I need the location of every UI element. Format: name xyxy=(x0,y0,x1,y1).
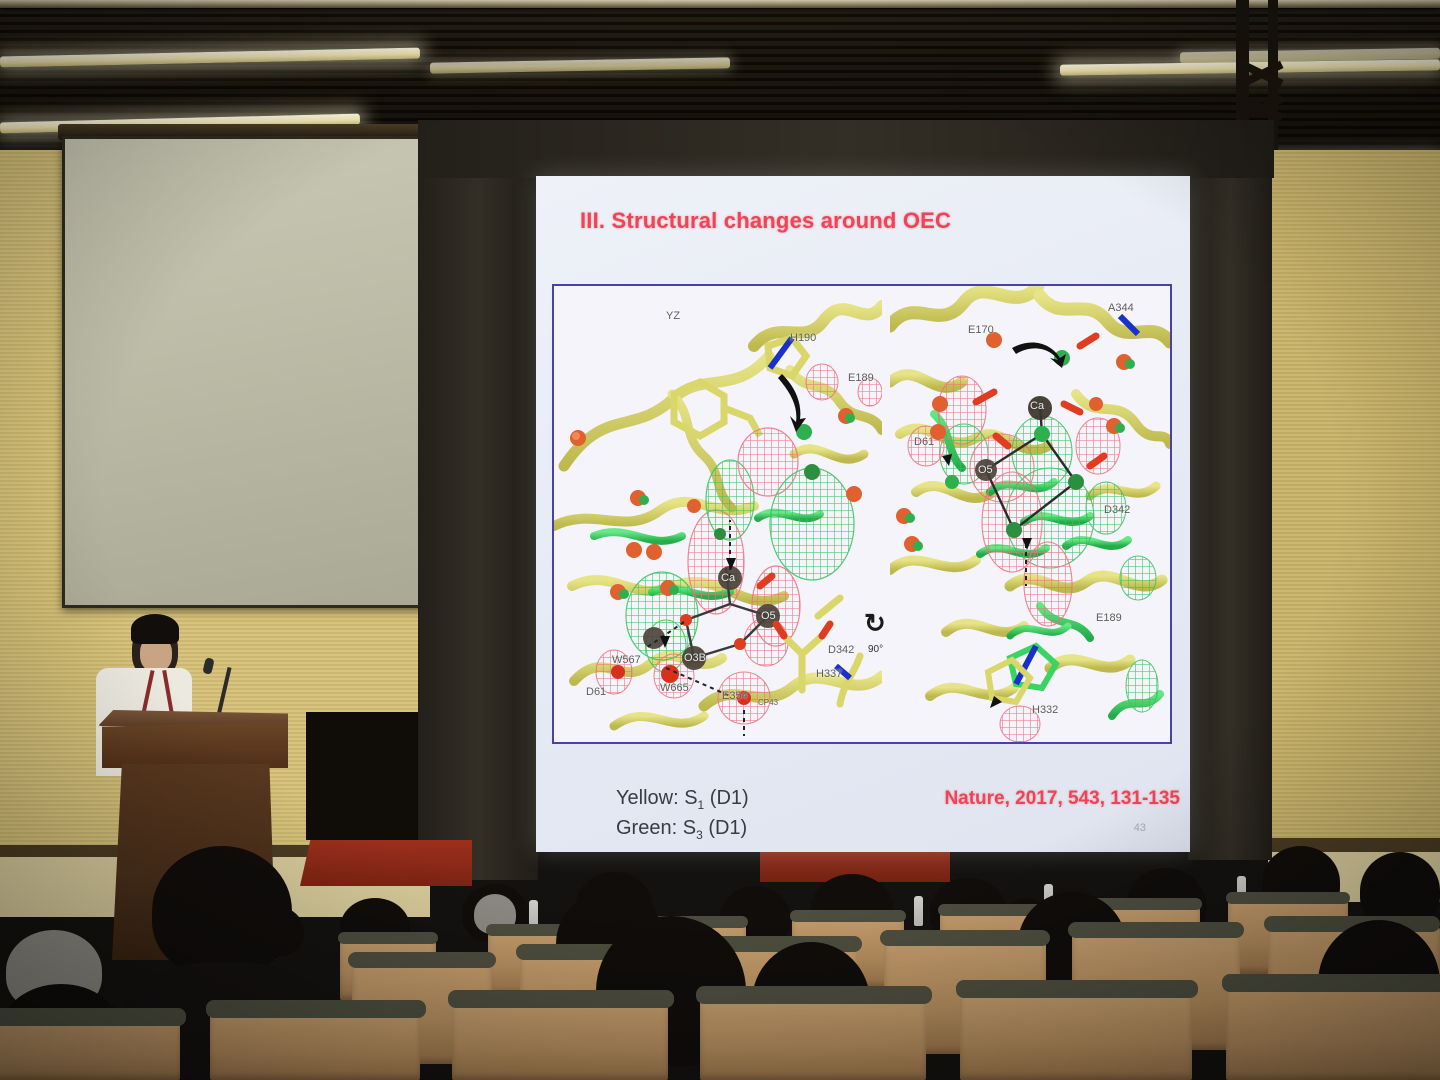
label-e189-right: E189 xyxy=(1096,612,1122,624)
label-a344: A344 xyxy=(1108,302,1134,314)
slide-figure-box: YZ H190 E189 Ca O5 O3B D342 D61 W567 W66… xyxy=(552,284,1172,744)
legend-yellow-chain: (D1) xyxy=(710,787,749,809)
slide-title: III. Structural changes around OEC xyxy=(580,208,951,234)
legend-green-word: Green: xyxy=(616,817,677,839)
label-d342-left: D342 xyxy=(828,644,854,656)
legend-green-chain: (D1) xyxy=(708,817,747,839)
legend-row-yellow: Yellow: S1 (D1) xyxy=(616,784,749,814)
legend-green-sub: 3 xyxy=(696,828,703,842)
label-d61-left: D61 xyxy=(586,686,606,698)
label-e170: E170 xyxy=(968,324,994,336)
projected-slide: III. Structural changes around OEC xyxy=(536,176,1190,852)
slide-page-number: 43 xyxy=(1134,822,1146,834)
label-d342-right: D342 xyxy=(1104,504,1130,516)
wall-panel-dark-right xyxy=(1188,120,1272,860)
label-d61-right: D61 xyxy=(914,436,934,448)
label-o3b: O3B xyxy=(684,652,706,664)
wall-panel-dark-left xyxy=(418,120,538,880)
speaker-hair xyxy=(131,614,179,644)
rotation-angle-label: 90° xyxy=(868,644,883,655)
label-cp43: CP43 xyxy=(758,698,778,707)
label-o5-left: O5 xyxy=(761,610,776,622)
wall-right xyxy=(1268,150,1440,856)
slide-citation: Nature, 2017, 543, 131-135 xyxy=(944,788,1180,810)
label-e354: E354 xyxy=(722,690,748,702)
label-e189-left: E189 xyxy=(848,372,874,384)
label-o5-right: O5 xyxy=(978,464,993,476)
legend-green-state: S xyxy=(683,817,696,839)
figure-panel-left: YZ H190 E189 Ca O5 O3B D342 D61 W567 W66… xyxy=(554,286,882,742)
label-h332: H332 xyxy=(1032,704,1058,716)
label-w665: W665 xyxy=(660,682,689,694)
label-w567: W567 xyxy=(612,654,641,666)
ceiling-edge-light xyxy=(0,0,1440,8)
slide-legend: Yellow: S1 (D1) Green: S3 (D1) xyxy=(616,784,749,845)
label-h337: H337 xyxy=(816,668,842,680)
water-bottle xyxy=(914,896,923,926)
legend-yellow-sub: 1 xyxy=(698,798,705,812)
legend-row-green: Green: S3 (D1) xyxy=(616,814,749,844)
audience-head-foreground xyxy=(152,846,292,976)
secondary-projection-screen xyxy=(62,136,424,608)
lecture-hall-photo: III. Structural changes around OEC xyxy=(0,0,1440,1080)
rotation-arrow-icon: ↻ xyxy=(864,608,886,639)
wall-panel-dark-top xyxy=(418,120,1274,178)
red-carpet xyxy=(300,840,472,886)
label-h190: H190 xyxy=(790,332,816,344)
legend-yellow-state: S xyxy=(684,787,697,809)
label-ca-right: Ca xyxy=(1030,400,1044,412)
doorway xyxy=(306,712,418,840)
label-yz: YZ xyxy=(666,310,680,322)
legend-yellow-word: Yellow: xyxy=(616,787,679,809)
label-ca-left: Ca xyxy=(721,572,735,584)
figure-panel-right: A344 E170 D61 Ca O5 E189 D342 H332 xyxy=(890,286,1170,742)
podium-front-panel xyxy=(102,722,288,768)
